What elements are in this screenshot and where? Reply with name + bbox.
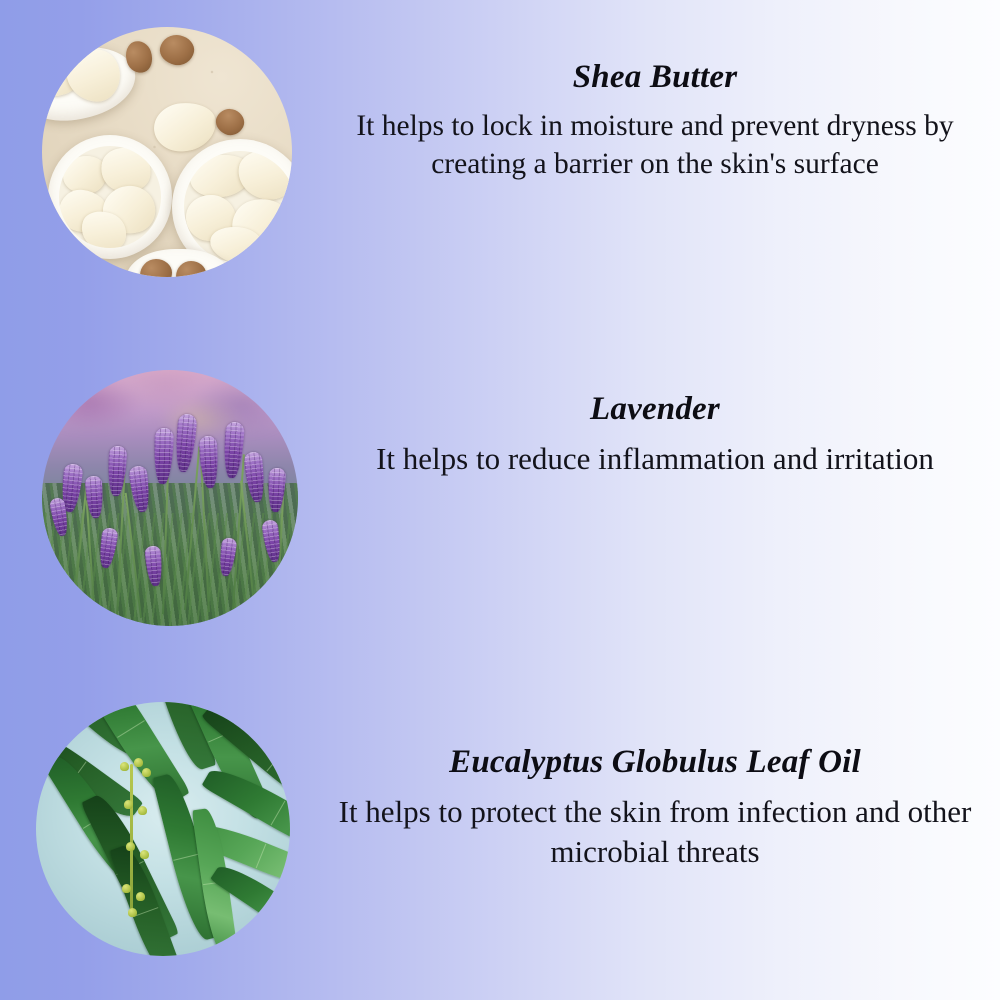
eucalyptus-bud [124, 800, 133, 809]
eucalyptus-bud [120, 762, 129, 771]
shea-butter-photo [42, 27, 292, 277]
shea-bowl-large-interior [59, 146, 161, 248]
lavender-photo [42, 370, 298, 626]
lavender-description: It helps to reduce inflammation and irri… [310, 439, 1000, 479]
eucalyptus-description: It helps to protect the skin from infect… [310, 792, 1000, 873]
shea-butter-description: It helps to lock in moisture and prevent… [310, 107, 1000, 184]
ingredient-row-eucalyptus: Eucalyptus Globulus Leaf Oil It helps to… [0, 675, 1000, 1000]
shea-butter-title: Shea Butter [310, 58, 1000, 97]
eucalyptus-text-block: Eucalyptus Globulus Leaf Oil It helps to… [310, 743, 1000, 873]
eucalyptus-bud [142, 768, 151, 777]
shea-chunk [234, 151, 292, 204]
lavender-title: Lavender [310, 390, 1000, 429]
eucalyptus-bud [134, 758, 143, 767]
eucalyptus-bud [140, 850, 149, 859]
ingredients-infographic: Shea Butter It helps to lock in moisture… [0, 0, 1000, 1000]
eucalyptus-bud-stem [130, 764, 133, 914]
eucalyptus-bud [128, 908, 137, 917]
shea-butter-text-block: Shea Butter It helps to lock in moisture… [310, 58, 1000, 184]
ingredient-row-shea-butter: Shea Butter It helps to lock in moisture… [0, 0, 1000, 330]
eucalyptus-photo [36, 702, 290, 956]
eucalyptus-title: Eucalyptus Globulus Leaf Oil [310, 743, 1000, 782]
eucalyptus-bud [122, 884, 131, 893]
eucalyptus-bud [126, 842, 135, 851]
eucalyptus-bud [136, 892, 145, 901]
lavender-text-block: Lavender It helps to reduce inflammation… [310, 390, 1000, 479]
ingredient-row-lavender: Lavender It helps to reduce inflammation… [0, 340, 1000, 665]
eucalyptus-bud [138, 806, 147, 815]
shea-bowl-right-interior [184, 151, 292, 263]
